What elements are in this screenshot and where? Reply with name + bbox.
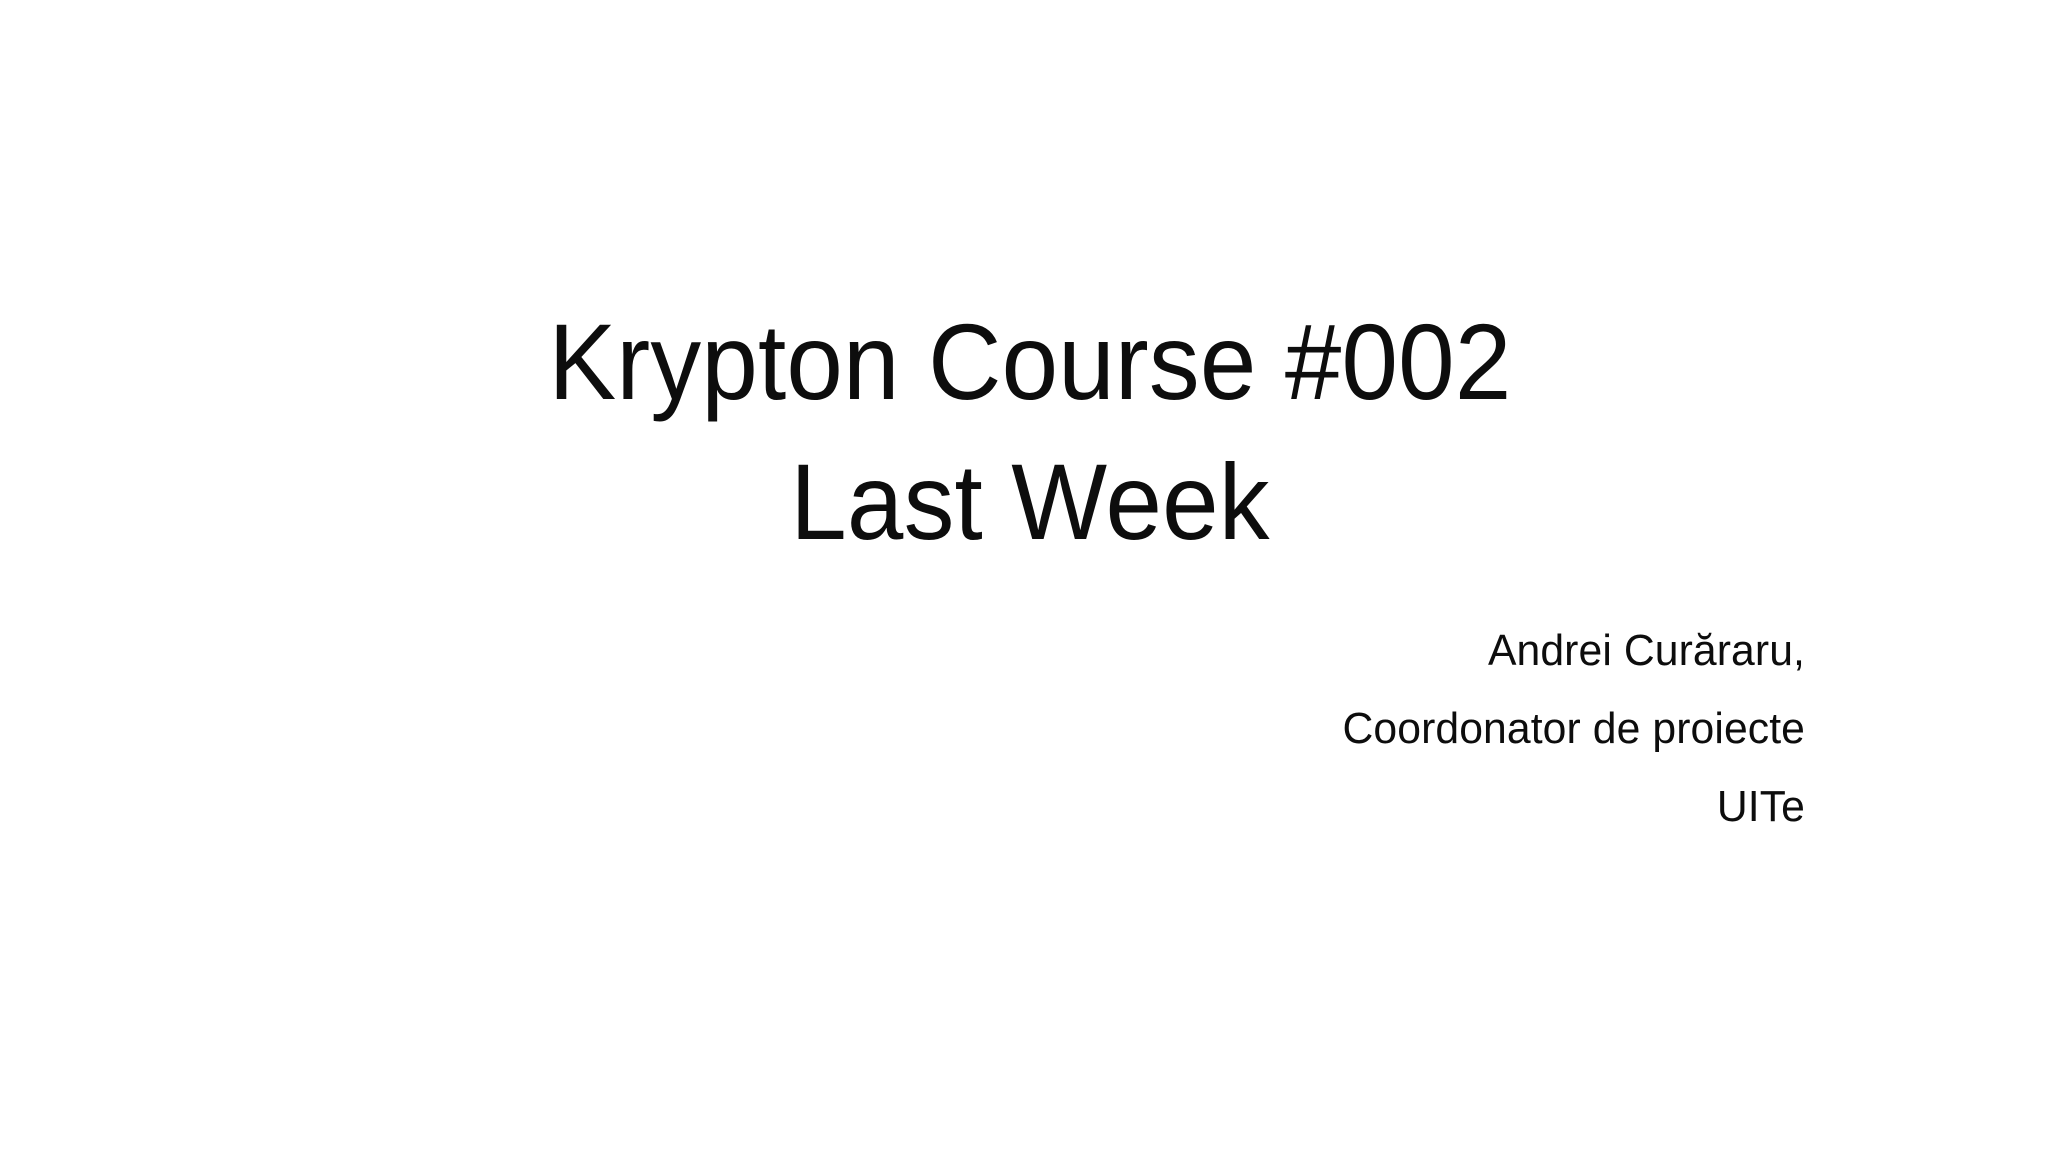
slide-subtitle-role: Coordonator de proiecte [636, 690, 1805, 768]
slide-title-line-1: Krypton Course #002 [297, 292, 1763, 432]
slide-title[interactable]: Krypton Course #002 Last Week [250, 292, 1810, 572]
slide-subtitle-author: Andrei Curăraru, [636, 612, 1805, 690]
slide-subtitle[interactable]: Andrei Curăraru, Coordonator de proiecte… [600, 612, 1805, 846]
slide-title-line-2: Last Week [297, 432, 1763, 572]
slide-subtitle-organization: UITe [636, 768, 1805, 846]
presentation-slide: Krypton Course #002 Last Week Andrei Cur… [0, 0, 2048, 1152]
